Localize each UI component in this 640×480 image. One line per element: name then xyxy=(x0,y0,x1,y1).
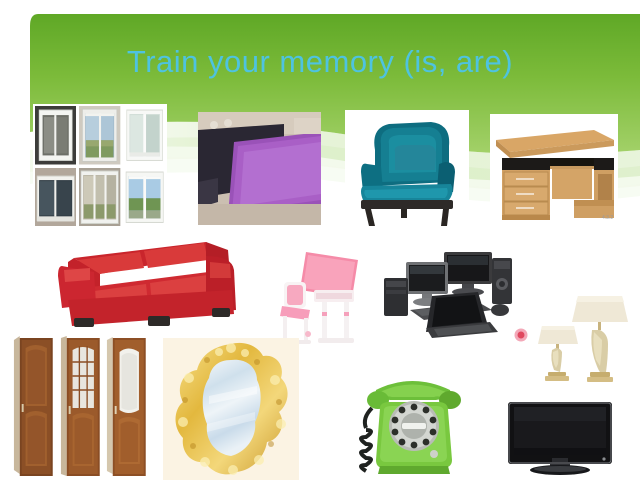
picture-tv xyxy=(500,396,620,478)
picture-pink-desk xyxy=(278,246,372,350)
picture-desk: 4.3.2 xyxy=(490,114,618,224)
desk-watermark-text: 4.3.2 xyxy=(602,215,613,221)
picture-armchair xyxy=(345,110,469,232)
door-thumb-2 xyxy=(59,334,102,478)
window-thumb-5 xyxy=(79,168,120,227)
picture-computers xyxy=(382,248,514,340)
window-thumb-3 xyxy=(124,106,165,165)
picture-lamps xyxy=(534,286,630,386)
window-thumb-6 xyxy=(124,168,165,227)
picture-carpet xyxy=(198,112,321,225)
picture-mirror xyxy=(163,338,299,480)
slide-canvas: Train your memory (is, are) xyxy=(0,0,640,480)
window-thumb-4 xyxy=(35,168,76,227)
window-thumb-1 xyxy=(35,106,76,165)
door-thumb-3 xyxy=(105,334,148,478)
picture-telephone xyxy=(358,368,468,480)
picture-windows xyxy=(33,104,167,228)
page-title: Train your memory (is, are) xyxy=(0,44,640,80)
picture-sofa xyxy=(56,238,248,334)
window-thumb-2 xyxy=(79,106,120,165)
lamp-watermark-badge xyxy=(514,328,528,342)
picture-doors xyxy=(12,334,148,478)
door-thumb-1 xyxy=(12,334,55,478)
